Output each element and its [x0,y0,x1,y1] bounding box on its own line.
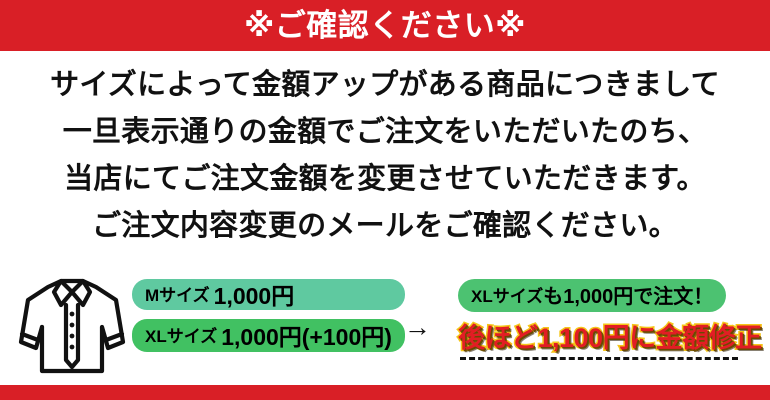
notice-line-2: 一旦表示通りの金額でご注文をいただいたのち、 [0,109,770,156]
dashed-underline [460,357,738,360]
price-correction-block: 後ほど1,100円に金額修正 [458,321,762,359]
price-correction-text: 後ほど1,100円に金額修正 [458,321,762,355]
notice-body: サイズによって金額アップがある商品につきまして 一旦表示通りの金額でご注文をいた… [0,62,770,250]
notice-line-1: サイズによって金額アップがある商品につきまして [0,62,770,109]
dress-shirt-icon [16,272,128,378]
notice-line-3: 当店にてご注文金額を変更させていただきます。 [0,156,770,203]
after-price-labels: XLサイズ も1,000円で注文！ 後ほど1,100円に金額修正 [458,279,762,359]
price-label-xl-order-size: XLサイズ [471,282,543,307]
notice-banner: ※ご確認ください※ サイズによって金額アップがある商品につきまして 一旦表示通り… [0,0,770,400]
arrow-right-icon: → [404,314,431,341]
page-title: ※ご確認ください※ [244,10,526,41]
price-label-xl-order: XLサイズ も1,000円で注文！ [458,279,726,312]
price-comparison-row: Mサイズ 1,000円 XLサイズ 1,000円(+100円) → XLサイズ … [0,266,770,384]
price-label-xl-order-price: も1,000円で注文！ [543,280,713,309]
price-label-m-size: Mサイズ [145,281,210,306]
header-bar: ※ご確認ください※ [0,0,770,51]
price-label-xl-price: 1,000円(+100円) [221,318,392,352]
footer-bar [0,385,770,400]
price-label-m: Mサイズ 1,000円 [132,279,405,310]
before-price-labels: Mサイズ 1,000円 XLサイズ 1,000円(+100円) [132,279,405,352]
notice-line-4: ご注文内容変更のメールをご確認ください。 [0,203,770,250]
price-label-xl: XLサイズ 1,000円(+100円) [132,319,405,352]
price-label-m-price: 1,000円 [214,277,295,311]
price-label-xl-size: XLサイズ [145,322,217,347]
